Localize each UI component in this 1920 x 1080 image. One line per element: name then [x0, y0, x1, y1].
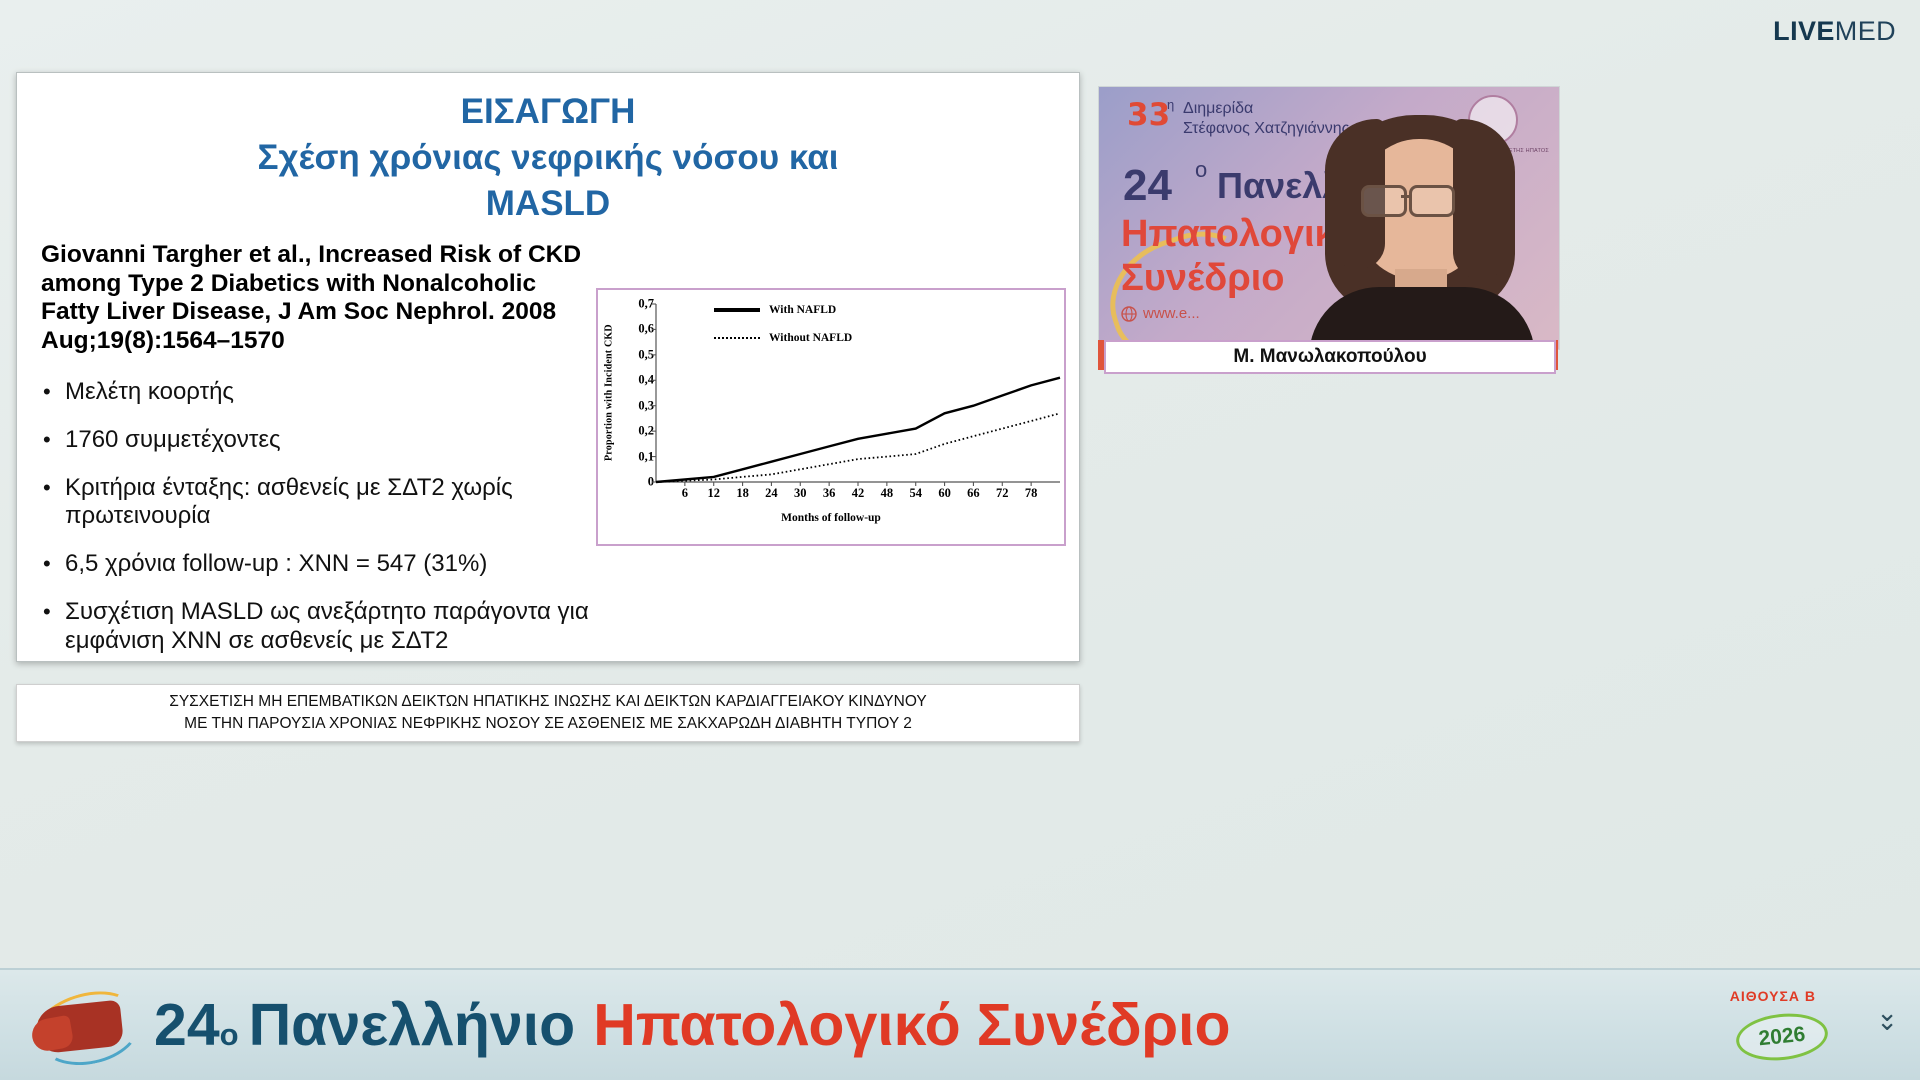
chart-plot-area [598, 290, 1068, 548]
chart-series-without-nafld [656, 413, 1060, 482]
poster-website-text: www.e... [1143, 305, 1200, 322]
list-item-label: Μελέτη κοορτής [65, 378, 603, 407]
slide-citation: Giovanni Targher et al., Increased Risk … [41, 241, 586, 356]
avatar-glasses-left [1361, 185, 1407, 217]
livemed-logo-med: MED [1835, 16, 1896, 47]
globe-icon [1121, 306, 1137, 322]
list-item-label: 6,5 χρόνια follow-up : ΧΝΝ = 547 (31%) [65, 550, 603, 579]
slide-title-line-2: Σχέση χρόνιας νεφρικής νόσου και [77, 135, 1019, 181]
banner-title: 24 ο Πανελλήνιο Ηπατολογικό Συνέδριο [154, 991, 1231, 1059]
poster-synedrio: Συνέδριο [1121, 257, 1285, 300]
list-item: • Συσχέτιση MASLD ως ανεξάρτητο παράγοντ… [43, 598, 603, 656]
room-label: ΑΙΘΟΥΣΑ Β [1730, 988, 1816, 1004]
slide-title: ΕΙΣΑΓΩΓΗ Σχέση χρόνιας νεφρικής νόσου κα… [17, 73, 1079, 228]
list-item-label: Συσχέτιση MASLD ως ανεξάρτητο παράγοντα … [65, 598, 603, 656]
caption-line-1: ΣΥΣΧΕΤΙΣΗ ΜΗ ΕΠΕΜΒΑΤΙΚΩΝ ΔΕΙΚΤΩΝ ΗΠΑΤΙΚΗ… [169, 691, 926, 713]
bullet-marker-icon: • [43, 474, 65, 532]
avatar-hair-right [1453, 119, 1515, 279]
list-item: • Κριτήρια ένταξης: ασθενείς με ΣΔΤ2 χωρ… [43, 474, 603, 532]
bottom-banner: 24 ο Πανελλήνιο Ηπατολογικό Συνέδριο ΑΙΘ… [0, 968, 1920, 1080]
banner-degree: ο [220, 1017, 239, 1053]
avatar-glasses-bridge [1401, 195, 1411, 198]
list-item: • Μελέτη κοορτής [43, 378, 603, 407]
avatar-glasses-right [1409, 185, 1455, 217]
list-item: • 1760 συμμετέχοντες [43, 426, 603, 455]
year-badge: 2026 [1734, 1009, 1830, 1064]
list-item-label: 1760 συμμετέχοντες [65, 426, 603, 455]
poster-website: www.e... [1121, 305, 1200, 322]
speaker-avatar [1295, 111, 1545, 349]
livemed-logo-live: LIVE [1773, 16, 1835, 47]
banner-synedrio: Συνέδριο [977, 991, 1231, 1059]
bullet-marker-icon: • [43, 378, 65, 407]
slide-bullet-list: • Μελέτη κοορτής • 1760 συμμετέχοντες • … [43, 378, 603, 675]
caption-line-2: ΜΕ ΤΗΝ ΠΑΡΟΥΣΙΑ ΧΡΟΝΙΑΣ ΝΕΦΡΙΚΗΣ ΝΟΣΟΥ Σ… [184, 713, 912, 735]
conference-poster-backdrop: 33 η Διημερίδα Στέφανος Χατζηγιάννης 24 … [1099, 87, 1559, 349]
banner-panellinio: Πανελλήνιο [249, 991, 576, 1059]
poster-number-24-degree: ο [1195, 157, 1207, 183]
poster-edition-suffix: η [1167, 97, 1174, 112]
liver-icon [28, 988, 136, 1062]
banner-hepatologiko: Ηπατολογικό [593, 991, 960, 1059]
bullet-marker-icon: • [43, 550, 65, 579]
list-item: • 6,5 χρόνια follow-up : ΧΝΝ = 547 (31%) [43, 550, 603, 579]
presentation-slide[interactable]: ΕΙΣΑΓΩΓΗ Σχέση χρόνιας νεφρικής νόσου κα… [16, 72, 1080, 662]
speaker-nameplate: Μ. Μανωλακοπούλου [1104, 340, 1556, 374]
speaker-video-panel[interactable]: 33 η Διημερίδα Στέφανος Χατζηγιάννης 24 … [1098, 86, 1560, 350]
bullet-marker-icon: • [43, 598, 65, 656]
livemed-logo: LIVEMED [1773, 16, 1896, 47]
double-chevron-down-icon[interactable]: ⌄⌄ [1876, 1012, 1898, 1030]
poster-number-24: 24 [1123, 161, 1172, 211]
list-item-label: Κριτήρια ένταξης: ασθενείς με ΣΔΤ2 χωρίς… [65, 474, 603, 532]
banner-number: 24 [154, 991, 220, 1059]
incident-ckd-chart: Proportion with Incident CKD 00,10,20,30… [596, 288, 1066, 546]
bullet-marker-icon: • [43, 426, 65, 455]
slide-title-line-3: MASLD [77, 181, 1019, 227]
poster-edition-number: 33 [1127, 97, 1170, 133]
session-caption-bar: ΣΥΣΧΕΤΙΣΗ ΜΗ ΕΠΕΜΒΑΤΙΚΩΝ ΔΕΙΚΤΩΝ ΗΠΑΤΙΚΗ… [16, 684, 1080, 742]
slide-title-line-1: ΕΙΣΑΓΩΓΗ [77, 89, 1019, 135]
